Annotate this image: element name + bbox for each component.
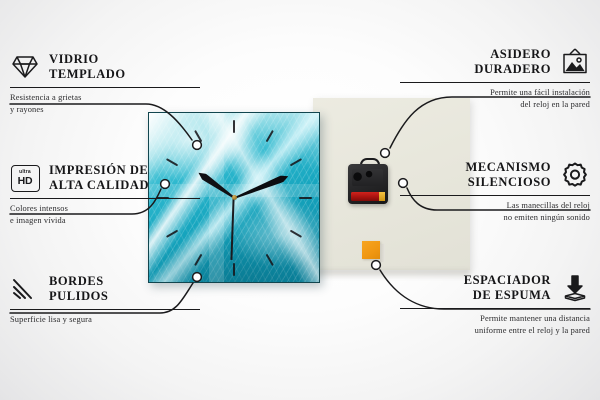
feature-vidrio-templado: VIDRIO TEMPLADO Resistencia a grietas y … [10, 50, 200, 115]
feature-bordes-pulidos: BORDES PULIDOS Superficie lisa y segura [10, 272, 200, 326]
feature-description: Permite una fácil instalación del reloj … [400, 87, 590, 110]
hd-badge-main-text: HD [18, 176, 33, 187]
feature-title: MECANISMO SILENCIOSO [465, 160, 551, 190]
feature-mecanismo-silencioso: MECANISMO SILENCIOSO Las manecillas del … [400, 158, 590, 223]
foam-spacer [362, 241, 380, 259]
feature-divider [10, 87, 200, 88]
gear-icon [560, 160, 590, 190]
hanging-picture-frame-icon [560, 47, 590, 77]
feature-description: Resistencia a grietas y rayones [10, 92, 200, 115]
feature-header: ultra HD IMPRESIÓN DE ALTA CALIDAD [10, 161, 200, 195]
hd-badge-top-text: ultra [19, 170, 31, 175]
feature-title: BORDES PULIDOS [49, 274, 108, 304]
feature-divider [400, 82, 590, 83]
feature-asidero-duradero: ASIDERO DURADERO Permite una fácil insta… [400, 45, 590, 110]
feature-description: Las manecillas del reloj no emiten ningú… [400, 200, 590, 223]
down-arrow-on-pad-icon [560, 273, 590, 303]
feature-description: Permite mantener una distancia uniforme … [400, 313, 590, 336]
feature-title: IMPRESIÓN DE ALTA CALIDAD [49, 163, 149, 193]
feature-header: BORDES PULIDOS [10, 272, 200, 306]
feature-header: MECANISMO SILENCIOSO [400, 158, 590, 192]
feature-description: Superficie lisa y segura [10, 314, 200, 326]
feature-title: ASIDERO DURADERO [474, 47, 551, 77]
feature-divider [400, 308, 590, 309]
feature-description: Colores intensos e imagen vívida [10, 203, 200, 226]
diamond-icon [10, 52, 40, 82]
feature-title: VIDRIO TEMPLADO [49, 52, 126, 82]
feature-divider [10, 309, 200, 310]
mechanism-body [348, 164, 388, 204]
mechanism-battery [351, 192, 385, 201]
feature-divider [10, 198, 200, 199]
feature-header: ESPACIADOR DE ESPUMA [400, 271, 590, 305]
polished-edges-icon [10, 274, 40, 304]
feature-title: ESPACIADOR DE ESPUMA [464, 273, 551, 303]
feature-divider [400, 195, 590, 196]
feature-header: ASIDERO DURADERO [400, 45, 590, 79]
clock-mechanism [348, 164, 388, 204]
clock-center-pin [232, 195, 237, 200]
feature-espaciador-de-espuma: ESPACIADOR DE ESPUMA Permite mantener un… [400, 271, 590, 336]
feature-impresion-alta-calidad: ultra HD IMPRESIÓN DE ALTA CALIDAD Color… [10, 161, 200, 226]
feature-header: VIDRIO TEMPLADO [10, 50, 200, 84]
ultra-hd-badge-icon: ultra HD [10, 163, 40, 193]
